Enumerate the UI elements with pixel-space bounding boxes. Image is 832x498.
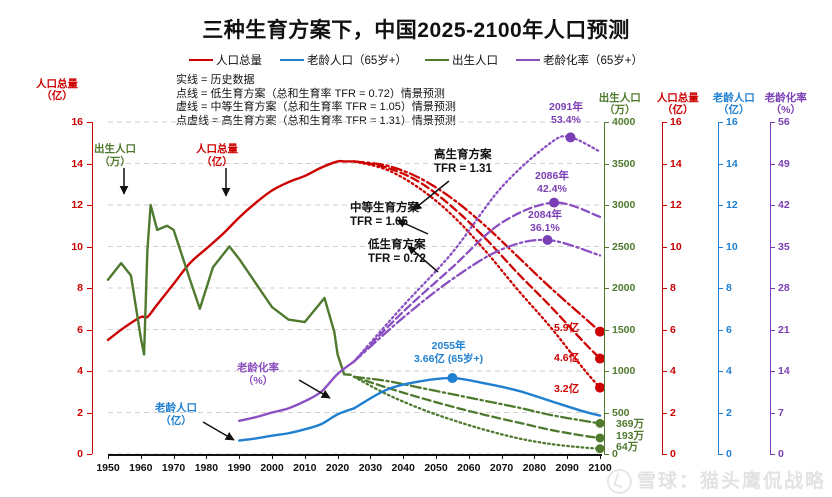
inchart-label-aging-line1: 老龄化率 [237, 362, 279, 375]
right-axis-tick [718, 454, 723, 455]
right-axis-tick [718, 288, 723, 289]
right-axis-tick [770, 122, 775, 123]
inchart-label-elderly: 老龄人口 （亿） [155, 402, 197, 427]
right-axis-tick [662, 330, 667, 331]
left-axis-tick [87, 454, 92, 455]
annotation-arrow [203, 422, 234, 440]
data-point-marker [543, 235, 553, 245]
right-axis-tick-label: 0 [778, 448, 784, 460]
left-axis-tick-label: 14 [71, 158, 83, 170]
right-axis-tick [662, 288, 667, 289]
legend-swatch-total [189, 59, 213, 61]
x-axis-tick-label: 1950 [96, 462, 119, 474]
right-axis-tick-label: 16 [726, 116, 738, 128]
right-axis-title-line2: （亿） [657, 104, 699, 116]
right-axis-tick-label: 12 [670, 199, 682, 211]
right-axis-tick-label: 35 [778, 241, 790, 253]
left-axis-tick-label: 4 [77, 365, 83, 377]
right-axis-tick [718, 205, 723, 206]
right-axis-tick-label: 4 [726, 365, 732, 377]
x-axis-tick-label: 2020 [326, 462, 349, 474]
right-axis-tick [662, 164, 667, 165]
watermark: 雪球：猫头鹰侃战略 [607, 466, 826, 494]
x-axis-tick [141, 454, 142, 459]
watermark-text: 雪球：猫头鹰侃战略 [637, 471, 826, 492]
elderly-peak-value: 3.66亿 (65岁+) [414, 353, 483, 366]
x-axis-tick-label: 1960 [129, 462, 152, 474]
right-axis-title-line2: （%） [765, 104, 807, 116]
left-axis-tick [87, 371, 92, 372]
right-axis-tick [770, 330, 775, 331]
scenario-label-high: 高生育方案 TFR = 1.31 [434, 148, 492, 176]
right-axis-tick-label: 2 [726, 407, 732, 419]
right-axis-tick-label: 56 [778, 116, 790, 128]
right-axis-tick-label: 1500 [612, 324, 635, 336]
right-axis-tick [770, 288, 775, 289]
endpoint-births-high: 369万 [616, 418, 644, 431]
right-axis-tick-label: 2 [670, 407, 676, 419]
x-axis-tick [403, 454, 404, 459]
chart-legend: 人口总量 老龄人口（65岁+） 出生人口 老龄化率（65岁+） [0, 52, 832, 68]
elderly-peak-year: 2055年 [414, 340, 483, 353]
right-axis-tick-label: 42 [778, 199, 790, 211]
inchart-label-births-line1: 出生人口 [94, 143, 136, 156]
right-axis-title-aging: 老龄化率（%） [765, 92, 807, 116]
left-axis-title-line2: （亿） [36, 90, 78, 102]
right-axis-tick [770, 205, 775, 206]
chart-root: 三种生育方案下，中国2025-2100年人口预测 人口总量 老龄人口（65岁+）… [0, 0, 832, 498]
right-axis-tick-label: 8 [670, 282, 676, 294]
right-axis-tick [662, 122, 667, 123]
inchart-label-total-line1: 人口总量 [196, 143, 238, 156]
x-axis-tick [534, 454, 535, 459]
right-axis-tick [604, 164, 609, 165]
inchart-label-births: 出生人口 （万） [94, 143, 136, 168]
right-axis-tick-label: 3500 [612, 158, 635, 170]
right-axis-tick [770, 454, 775, 455]
right-axis-tick [662, 205, 667, 206]
right-axis-tick [604, 122, 609, 123]
right-axis-tick-label: 12 [726, 199, 738, 211]
right-axis-tick [770, 413, 775, 414]
x-axis-tick [370, 454, 371, 459]
left-axis-tick-label: 0 [77, 448, 83, 460]
right-axis-tick-label: 4000 [612, 116, 635, 128]
right-axis-tick [604, 454, 609, 455]
endpoint-total-high: 5.9亿 [554, 322, 579, 335]
elderly-peak-2055: 2055年 3.66亿 (65岁+) [414, 340, 483, 365]
right-axis-tick [770, 164, 775, 165]
explanation-row-dotted: 点线 = 低生育方案（总和生育率 TFR = 0.72）情景预测 [176, 88, 456, 102]
x-axis-tick [305, 454, 306, 459]
scenario-low-name: 低生育方案 [368, 238, 426, 252]
right-axis-tick-label: 16 [670, 116, 682, 128]
left-axis-tick [87, 288, 92, 289]
left-axis-tick-label: 6 [77, 324, 83, 336]
x-axis-tick-label: 1980 [195, 462, 218, 474]
right-axis-tick-label: 14 [726, 158, 738, 170]
marker-layer [447, 132, 605, 453]
data-point-marker [549, 198, 559, 208]
left-axis-tick [87, 413, 92, 414]
scenario-label-low: 低生育方案 TFR = 0.72 [368, 238, 426, 266]
x-axis-tick-label: 2010 [293, 462, 316, 474]
scenario-low-tfr: TFR = 0.72 [368, 252, 426, 266]
x-axis-tick [174, 454, 175, 459]
right-axis-tick-label: 1000 [612, 365, 635, 377]
explanation-row-dashed: 虚线 = 中等生育方案（总和生育率 TFR = 1.05）情景预测 [176, 101, 456, 115]
left-axis-tick-label: 10 [71, 241, 83, 253]
x-axis-tick-label: 2060 [457, 462, 480, 474]
inchart-label-total-line2: （亿） [196, 156, 238, 169]
legend-item-elderly: 老龄人口（65岁+） [280, 52, 407, 68]
right-axis-tick [770, 371, 775, 372]
legend-swatch-elderly [280, 59, 304, 61]
chart-title: 三种生育方案下，中国2025-2100年人口预测 [0, 14, 832, 44]
inchart-label-elderly-line2: （亿） [155, 415, 197, 428]
x-axis-tick [567, 454, 568, 459]
data-point-marker [447, 373, 457, 383]
aging-peak-2086: 2086年 42.4% [535, 170, 569, 195]
right-axis-tick [718, 122, 723, 123]
data-point-marker [565, 132, 575, 142]
right-axis-tick-label: 49 [778, 158, 790, 170]
legend-item-total: 人口总量 [189, 52, 262, 68]
right-axis-tick-label: 14 [670, 158, 682, 170]
left-axis-tick-label: 12 [71, 199, 83, 211]
right-axis-tick [662, 413, 667, 414]
x-axis-tick [600, 454, 601, 459]
inchart-label-aging-line2: （%） [237, 375, 279, 388]
right-axis-tick-label: 0 [670, 448, 676, 460]
legend-label-total: 人口总量 [216, 55, 262, 67]
x-axis-tick-label: 2040 [392, 462, 415, 474]
explanation-row-solid: 实线 = 历史数据 [176, 74, 456, 88]
right-axis-tick [718, 413, 723, 414]
left-axis-tick [87, 247, 92, 248]
right-axis-tick-label: 6 [726, 324, 732, 336]
right-axis-tick-label: 500 [612, 407, 630, 419]
legend-swatch-births [425, 59, 449, 61]
x-axis-tick-label: 2080 [523, 462, 546, 474]
right-axis-tick-label: 28 [778, 282, 790, 294]
right-axis-tick [718, 164, 723, 165]
inchart-label-elderly-line1: 老龄人口 [155, 402, 197, 415]
scenario-label-medium: 中等生育方案 TFR = 1.05 [350, 201, 419, 229]
x-axis [108, 454, 602, 456]
right-axis-title-line2: （万） [599, 104, 641, 116]
aging-peak-2091-value: 53.4% [549, 114, 583, 127]
left-axis-tick [87, 330, 92, 331]
left-axis-tick-label: 16 [71, 116, 83, 128]
scenario-medium-tfr: TFR = 1.05 [350, 215, 419, 229]
right-axis-tick [662, 247, 667, 248]
right-axis-title-line2: （亿） [713, 104, 755, 116]
legend-label-elderly: 老龄人口（65岁+） [307, 55, 407, 67]
right-axis-tick [718, 247, 723, 248]
left-axis-tick-label: 2 [77, 407, 83, 419]
left-axis-title: 人口总量 （亿） [36, 78, 78, 102]
right-axis-tick [604, 371, 609, 372]
left-axis-tick [87, 164, 92, 165]
x-axis-tick-label: 1990 [228, 462, 251, 474]
x-axis-tick-label: 2000 [260, 462, 283, 474]
left-axis-tick-label: 8 [77, 282, 83, 294]
x-axis-tick [108, 454, 109, 459]
inchart-label-births-line2: （万） [94, 156, 136, 169]
right-axis-tick-label: 7 [778, 407, 784, 419]
right-axis-title-line1: 人口总量 [657, 92, 699, 104]
right-axis-tick-label: 10 [670, 241, 682, 253]
x-axis-tick-label: 2050 [424, 462, 447, 474]
right-axis-tick [604, 330, 609, 331]
endpoint-total-low: 3.2亿 [554, 383, 579, 396]
right-axis-title-elderly: 老龄人口（亿） [713, 92, 755, 116]
endpoint-births-low: 64万 [616, 441, 638, 454]
right-axis-tick [604, 205, 609, 206]
series-line [239, 408, 354, 440]
right-axis-tick [770, 247, 775, 248]
inchart-label-total: 人口总量 （亿） [196, 143, 238, 168]
right-axis-tick [604, 288, 609, 289]
left-axis-tick [87, 122, 92, 123]
right-axis-tick-label: 6 [670, 324, 676, 336]
legend-swatch-aging [516, 59, 540, 61]
x-axis-tick-label: 2090 [556, 462, 579, 474]
endpoint-total-medium: 4.6亿 [554, 352, 579, 365]
aging-peak-2084: 2084年 36.1% [528, 209, 562, 234]
right-axis-title-total: 人口总量（亿） [657, 92, 699, 116]
aging-peak-2091-year: 2091年 [549, 101, 583, 114]
watermark-logo-icon [607, 469, 632, 494]
right-axis-tick [718, 371, 723, 372]
right-axis-title-line1: 老龄人口 [713, 92, 755, 104]
right-axis-tick-label: 3000 [612, 199, 635, 211]
scenario-medium-name: 中等生育方案 [350, 201, 419, 215]
inchart-label-aging: 老龄化率 （%） [237, 362, 279, 387]
right-axis-tick-label: 10 [726, 241, 738, 253]
x-axis-tick [436, 454, 437, 459]
left-axis-title-line1: 人口总量 [36, 78, 78, 90]
x-axis-tick-label: 1970 [162, 462, 185, 474]
scenario-high-tfr: TFR = 1.31 [434, 162, 492, 176]
right-axis-tick [662, 454, 667, 455]
series-line [108, 205, 351, 375]
x-axis-tick [239, 454, 240, 459]
right-axis-tick-label: 0 [726, 448, 732, 460]
right-axis-title-births: 出生人口（万） [599, 92, 641, 116]
aging-peak-2091: 2091年 53.4% [549, 101, 583, 126]
legend-item-aging: 老龄化率（65岁+） [516, 52, 643, 68]
right-axis-tick-label: 8 [726, 282, 732, 294]
right-axis-title-line1: 出生人口 [599, 92, 641, 104]
left-axis-tick [87, 205, 92, 206]
scenario-high-name: 高生育方案 [434, 148, 492, 162]
x-axis-tick [272, 454, 273, 459]
legend-item-births: 出生人口 [425, 52, 498, 68]
legend-label-births: 出生人口 [452, 55, 498, 67]
left-axis-line [92, 122, 93, 454]
aging-peak-2084-value: 36.1% [528, 222, 562, 235]
x-axis-tick [206, 454, 207, 459]
right-axis-tick [718, 330, 723, 331]
aging-peak-2084-year: 2084年 [528, 209, 562, 222]
right-axis-tick [604, 247, 609, 248]
x-axis-tick [338, 454, 339, 459]
right-axis-tick-label: 4 [670, 365, 676, 377]
right-axis-tick-label: 21 [778, 324, 790, 336]
right-axis-tick-label: 14 [778, 365, 790, 377]
right-axis-tick-label: 2500 [612, 241, 635, 253]
x-axis-tick [502, 454, 503, 459]
x-axis-tick [469, 454, 470, 459]
right-axis-tick [604, 413, 609, 414]
legend-label-aging: 老龄化率（65岁+） [543, 55, 643, 67]
right-axis-tick [662, 371, 667, 372]
x-axis-tick-label: 2030 [359, 462, 382, 474]
right-axis-title-line1: 老龄化率 [765, 92, 807, 104]
right-axis-tick-label: 2000 [612, 282, 635, 294]
aging-peak-2086-year: 2086年 [535, 170, 569, 183]
line-style-explanation: 实线 = 历史数据 点线 = 低生育方案（总和生育率 TFR = 0.72）情景… [176, 74, 456, 128]
aging-peak-2086-value: 42.4% [535, 183, 569, 196]
x-axis-tick-label: 2070 [490, 462, 513, 474]
